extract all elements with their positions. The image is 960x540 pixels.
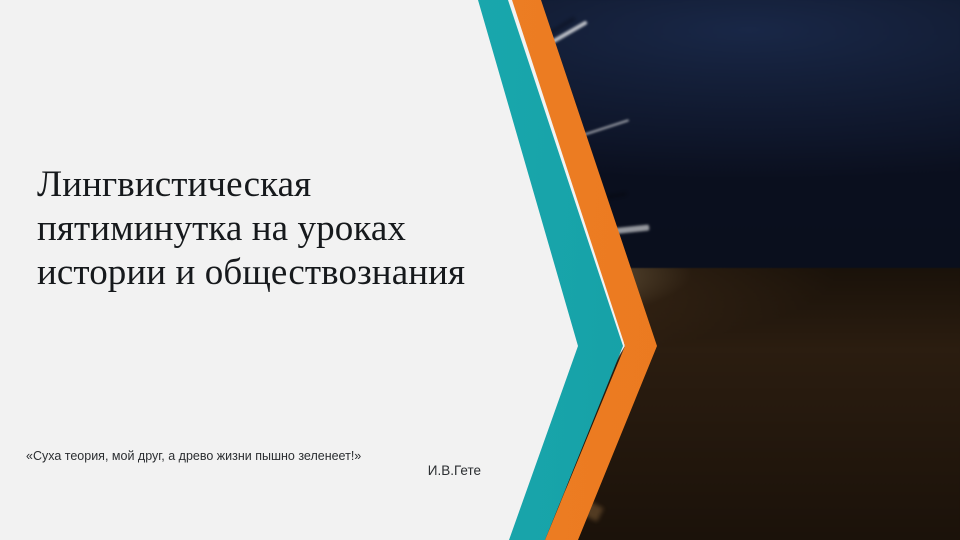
title-slide: Лингвистическая пятиминутка на уроках ис… xyxy=(0,0,960,540)
guard-rail xyxy=(210,268,510,449)
road-glow xyxy=(60,268,320,462)
road-rays xyxy=(0,268,960,540)
slide-title: Лингвистическая пятиминутка на уроках ис… xyxy=(37,163,477,295)
road-motion-blur xyxy=(0,268,960,540)
road-center-line xyxy=(118,268,538,540)
slide-quote-author: И.В.Гете xyxy=(26,463,481,478)
slide-quote: «Суха теория, мой друг, а древо жизни пы… xyxy=(26,448,446,464)
